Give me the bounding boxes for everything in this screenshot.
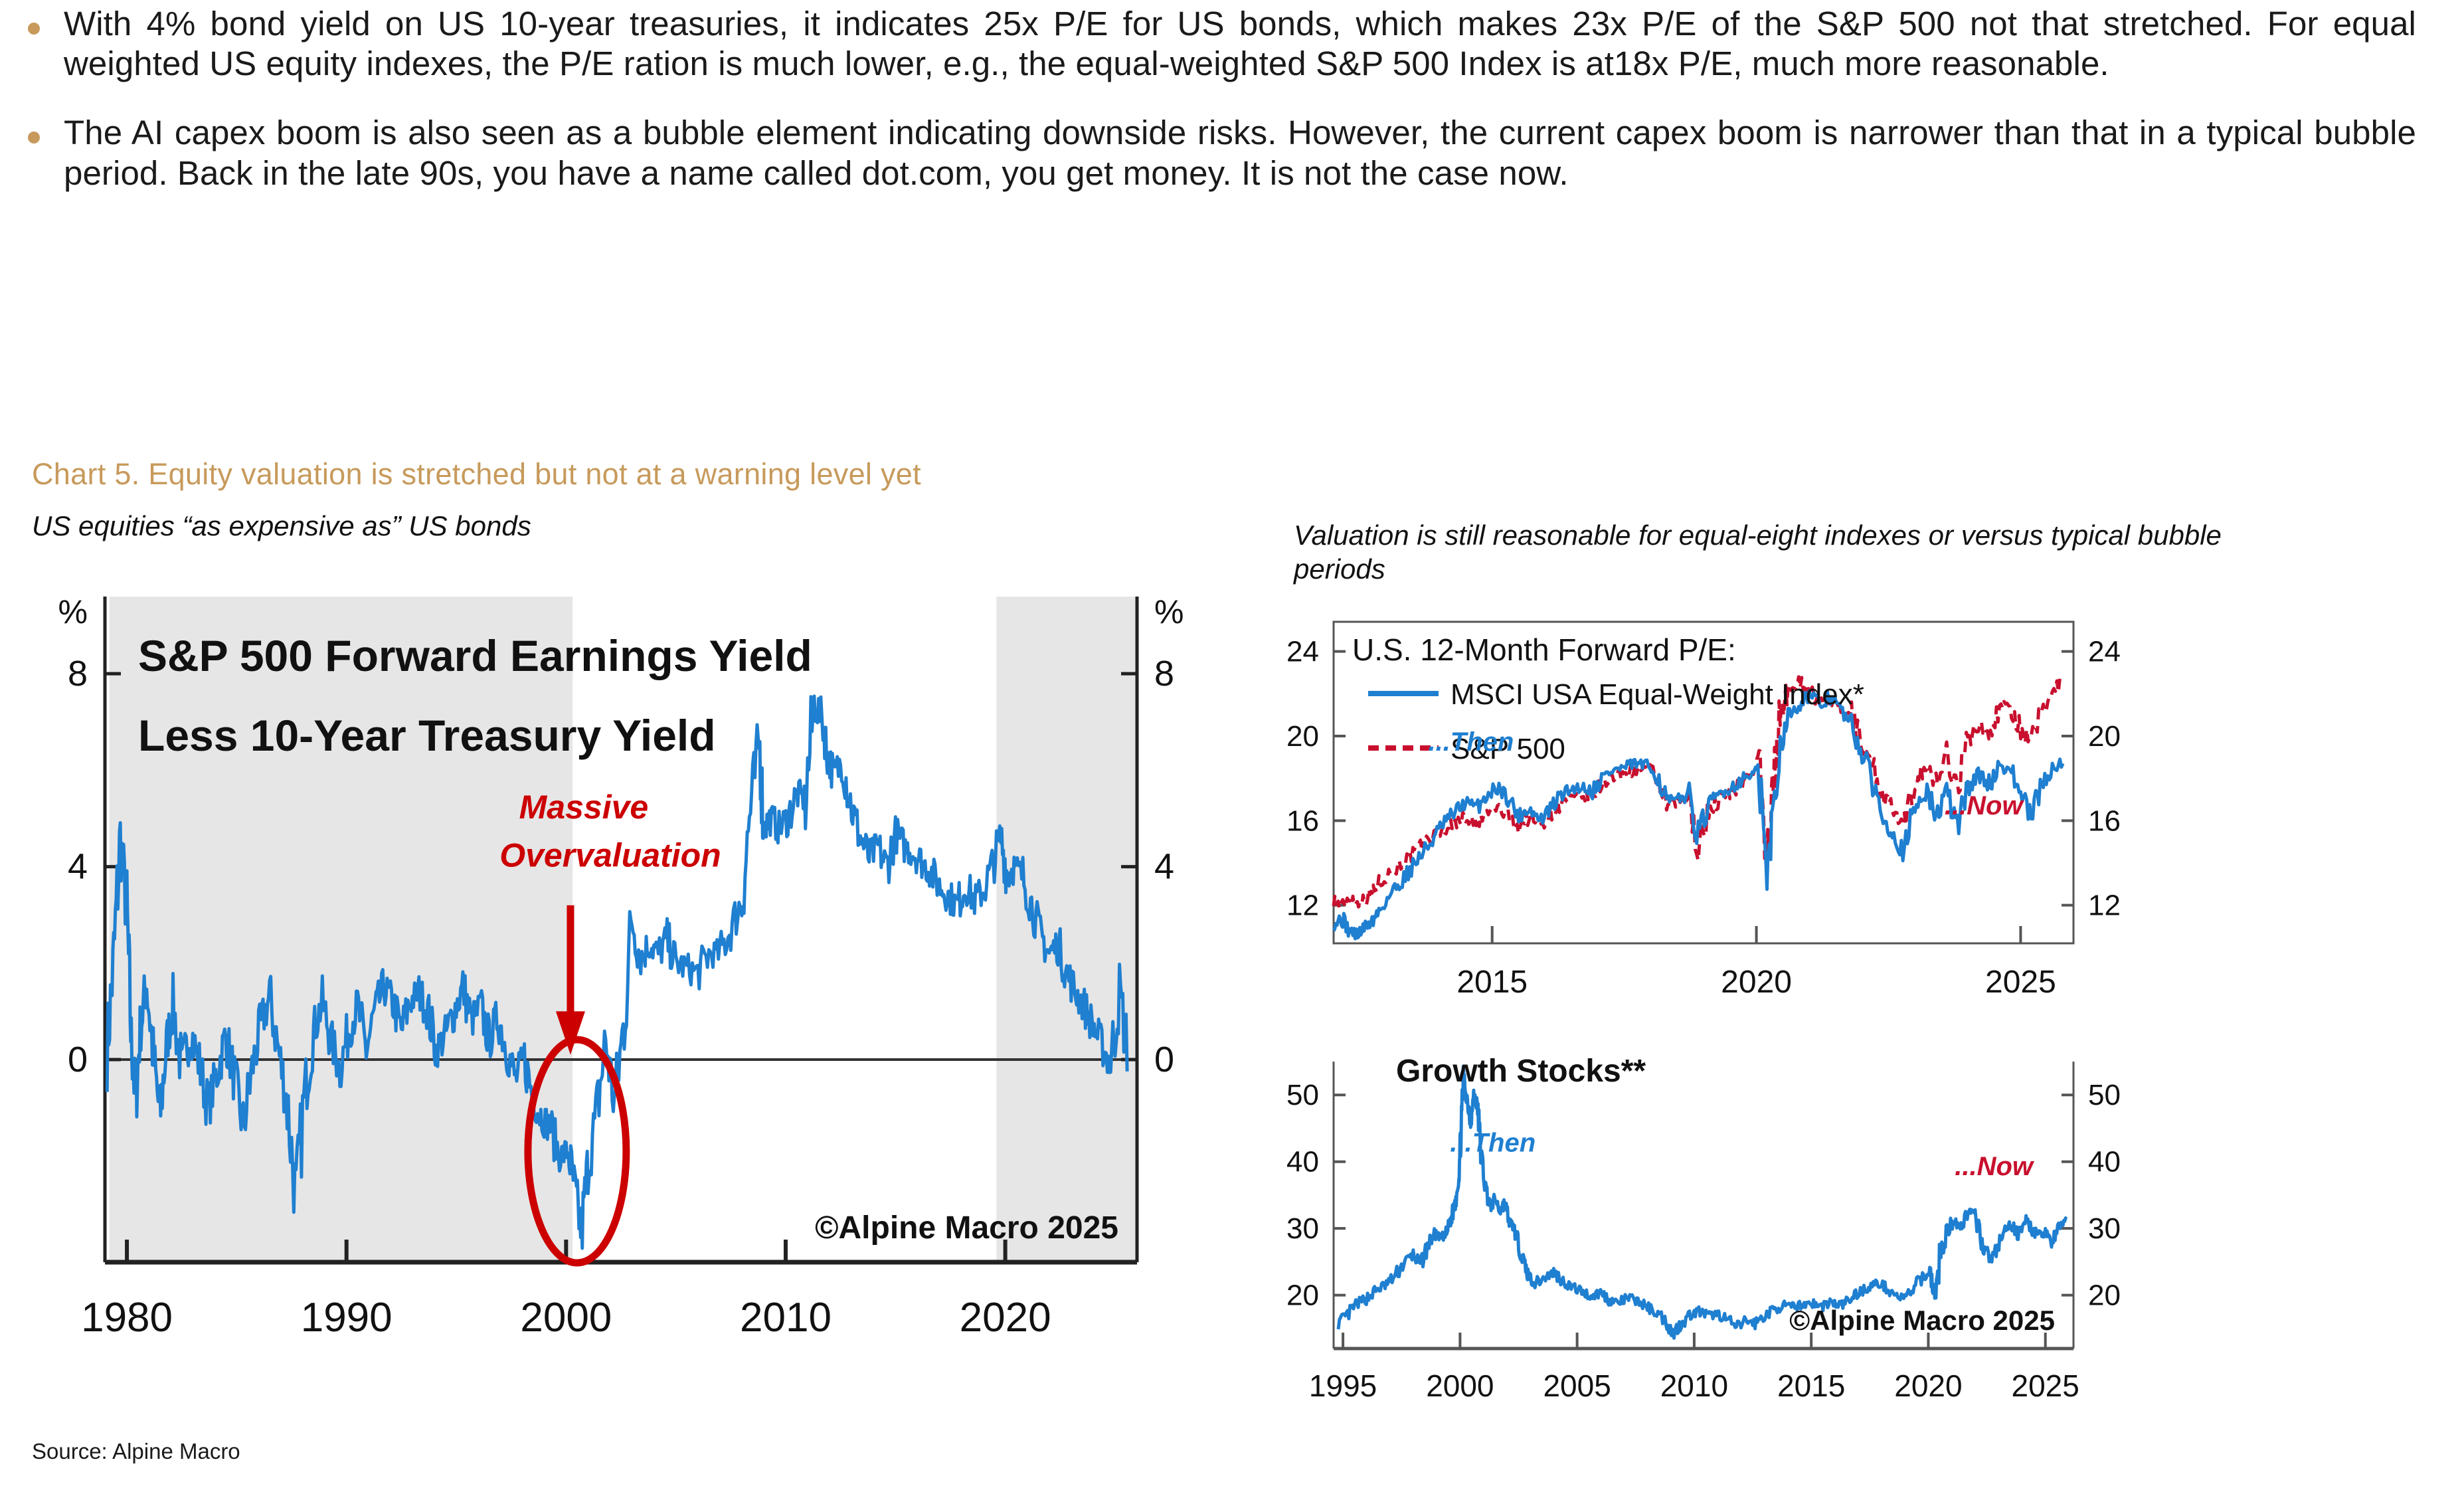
x-tick-label: 1995 [1309,1368,1377,1403]
right-panel-caption: Valuation is still reasonable for equal-… [1294,518,2290,586]
shaded-band [996,597,1137,1262]
plot-frame [1334,622,2073,943]
source-note: Source: Alpine Macro [32,1439,240,1464]
y-tick-label: 20 [1286,1279,1319,1312]
annotation-label: ...Then [1428,727,1514,757]
chart-inplot-title: U.S. 12-Month Forward P/E: [1352,632,1736,667]
y-tick-label: 0 [68,1040,88,1080]
x-tick-label: 2020 [960,1295,1051,1341]
chart-inplot-title: Less 10-Year Treasury Yield [138,711,716,760]
bullet-dot-icon [28,23,40,35]
legend-label: MSCI USA Equal-Weight Index* [1451,678,1864,711]
bullet-text: With 4% bond yield on US 10-year treasur… [64,4,2435,84]
y-tick-label: 4 [68,847,88,887]
x-tick-label: 2010 [1660,1368,1728,1403]
slide-page: With 4% bond yield on US 10-year treasur… [0,0,2464,1504]
y-tick-label: 16 [1286,804,1319,837]
watermark-label: ©Alpine Macro 2025 [815,1210,1118,1246]
y-tick-label: 20 [2088,720,2121,753]
y-tick-label: 50 [2088,1079,2121,1111]
annotation-label: Overvaluation [499,837,721,874]
shaded-band [110,597,573,1262]
x-tick-label: 2010 [740,1295,832,1341]
x-tick-label: 2020 [1721,965,1792,1000]
y-tick-label: 30 [1286,1212,1319,1245]
y-tick-label: 50 [1286,1079,1319,1111]
x-tick-label: 1980 [81,1295,173,1341]
y-tick-label: 30 [2088,1212,2121,1245]
chart-growth-stocks: 2020303040405050199520002005201020152020… [1262,1050,2145,1448]
y-tick-label: 12 [1286,890,1319,922]
watermark-label: ©Alpine Macro 2025 [1789,1305,2055,1336]
list-item: The AI capex boom is also seen as a bubb… [0,113,2457,193]
y-tick-label: 0 [1154,1040,1174,1080]
data-series-line [1338,1066,2066,1338]
x-tick-label: 2000 [520,1295,612,1341]
bullet-dot-icon [28,132,40,143]
x-tick-label: 2000 [1426,1368,1494,1403]
bullet-list: With 4% bond yield on US 10-year treasur… [0,4,2457,223]
annotation-label: ...Then [1450,1129,1536,1158]
annotation-label: ...Now [1945,791,2025,820]
y-tick-label: 16 [2088,804,2121,837]
y-tick-label: 8 [68,654,88,694]
x-tick-label: 1990 [301,1295,393,1341]
annotation-label: Massive [519,789,649,826]
chart-spx-earnings-yield: 004488%%19801990200020102020S&P 500 Forw… [27,571,1215,1408]
y-tick-label: 40 [2088,1146,2121,1178]
chart-inplot-title: Growth Stocks** [1396,1054,1646,1089]
annotation-label: ...Now [1955,1152,2035,1181]
y-tick-label: 12 [2088,890,2121,922]
left-panel-caption: US equities “as expensive as” US bonds [32,509,531,543]
x-tick-label: 2020 [1894,1368,1962,1403]
bullet-text: The AI capex boom is also seen as a bubb… [64,113,2435,193]
y-axis-unit: % [1154,593,1184,630]
y-axis-unit: % [58,593,88,630]
chart-us-forward-pe: 1212161620202424201520202025U.S. 12-Mont… [1262,611,2145,1050]
y-tick-label: 20 [2088,1279,2121,1312]
y-tick-label: 4 [1154,847,1174,887]
list-item: With 4% bond yield on US 10-year treasur… [0,4,2457,84]
y-tick-label: 40 [1286,1146,1319,1178]
y-tick-label: 24 [2088,636,2121,668]
x-tick-label: 2005 [1543,1368,1611,1403]
x-tick-label: 2015 [1777,1368,1845,1403]
chart-inplot-title: S&P 500 Forward Earnings Yield [138,631,812,680]
x-tick-label: 2025 [2012,1368,2079,1403]
y-tick-label: 20 [1286,720,1319,753]
chart-section-title: Chart 5. Equity valuation is stretched b… [32,457,921,492]
x-tick-label: 2025 [1985,965,2056,1000]
x-tick-label: 2015 [1456,965,1528,1000]
y-tick-label: 8 [1154,654,1174,694]
y-tick-label: 24 [1286,636,1319,668]
